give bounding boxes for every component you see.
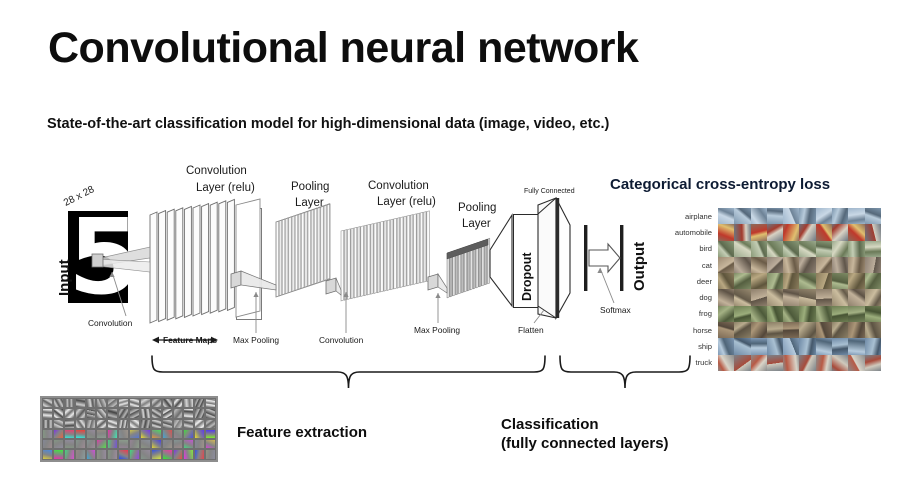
conv1-leader-label: Convolution (88, 318, 132, 328)
filter-tile (64, 408, 75, 418)
cifar-thumbnail (832, 273, 848, 289)
filter-tile (86, 419, 97, 429)
filter-tile (194, 429, 205, 439)
cifar-thumbnail (848, 257, 864, 273)
filter-tile (205, 439, 216, 449)
pool2-sheet (488, 238, 490, 284)
cifar-thumbnail (718, 224, 734, 240)
cifar-thumbnail (832, 257, 848, 273)
filter-tile (107, 429, 118, 439)
fc-thick-edge (556, 198, 559, 318)
cifar-thumbnail (767, 224, 783, 240)
conv2-sheet (404, 216, 407, 287)
conv2-sheet (341, 230, 344, 301)
cifar-row: ship (655, 338, 881, 354)
pool2-sheet (485, 239, 487, 285)
cifar-thumbnail (832, 338, 848, 354)
cifar-class-label: horse (655, 326, 718, 335)
conv2-sheet (367, 224, 370, 295)
cifar-thumbnail (799, 289, 815, 305)
filter-tile (53, 419, 64, 429)
pool1-sheet (282, 219, 284, 295)
cifar-thumbnail (799, 208, 815, 224)
filter-tile (151, 398, 162, 408)
dropout-label: Dropout (520, 252, 534, 301)
filter-row (42, 449, 216, 459)
filter-tile (96, 449, 107, 459)
fc-funnel-right (556, 198, 570, 318)
cifar-thumbnail (865, 338, 881, 354)
cifar-thumbnail (734, 273, 750, 289)
cifar-thumbnail (865, 257, 881, 273)
conv2-sheet (391, 219, 394, 290)
cifar-thumbnail (848, 241, 864, 257)
filter-tile (118, 449, 129, 459)
filter-tile (96, 429, 107, 439)
pool2-sheet (473, 243, 475, 289)
filter-tile (129, 429, 140, 439)
cifar-class-label: automobile (655, 228, 718, 237)
filter-tile (53, 398, 64, 408)
pool1-sheet (327, 204, 329, 280)
pool2-sheet (479, 241, 481, 287)
filter-tile (42, 429, 53, 439)
filter-tile (140, 408, 151, 418)
cifar-thumbnail-row (718, 289, 881, 305)
cifar-class-label: frog (655, 309, 718, 318)
filter-tile (86, 429, 97, 439)
pool1-sheet (314, 208, 316, 284)
cifar-thumbnail (734, 355, 750, 371)
cifar-thumbnail (865, 355, 881, 371)
filter-tile (96, 408, 107, 418)
pool2-sheet (482, 240, 484, 286)
cifar-thumbnail (783, 322, 799, 338)
cifar-thumbnail (734, 322, 750, 338)
pool2-sheet (453, 250, 455, 296)
cifar-thumbnail (718, 208, 734, 224)
filter-tile (42, 439, 53, 449)
cifar-class-label: ship (655, 342, 718, 351)
cifar-thumbnail (734, 241, 750, 257)
pool2-leader-label: Max Pooling (414, 325, 460, 335)
filter-tile (42, 419, 53, 429)
cifar-thumbnail (848, 224, 864, 240)
cifar-thumbnail (816, 322, 832, 338)
filter-tile (151, 429, 162, 439)
cifar-thumbnail-row (718, 224, 881, 240)
cifar-thumbnail (767, 338, 783, 354)
cifar-thumbnail (816, 257, 832, 273)
fc-edge (538, 198, 556, 318)
filter-tile (162, 439, 173, 449)
cifar-thumbnail (865, 289, 881, 305)
pool1-sheet (311, 209, 313, 285)
cifar-thumbnail (718, 355, 734, 371)
pool1-sheet (321, 206, 323, 282)
cifar-thumbnail (848, 273, 864, 289)
cifar-row: bird (655, 241, 881, 257)
pool1-sheet (308, 210, 310, 286)
cifar-thumbnail (865, 306, 881, 322)
flatten-label: Flatten (518, 325, 544, 335)
cifar-class-label: deer (655, 277, 718, 286)
conv2-sheet (348, 229, 351, 300)
cifar-thumbnail (767, 241, 783, 257)
page-subtitle: State-of-the-art classification model fo… (47, 116, 609, 132)
filter-tile (151, 419, 162, 429)
cifar-thumbnail (832, 306, 848, 322)
conv2-sheet (364, 225, 367, 296)
cifar-thumbnail (832, 355, 848, 371)
filter-tile (205, 408, 216, 418)
pool2-sheet (456, 249, 458, 295)
cifar-thumbnail (751, 355, 767, 371)
conv2-sheet (351, 228, 354, 299)
filter-tile (64, 419, 75, 429)
filter-tile (42, 408, 53, 418)
feature-map-sheet (193, 205, 200, 316)
cifar-thumbnail (799, 241, 815, 257)
filter-tile (118, 429, 129, 439)
filter-tile (140, 419, 151, 429)
pool2-sheet (470, 244, 472, 290)
pool1-title-line1: Pooling (291, 181, 329, 193)
conv2-sheet (394, 218, 397, 289)
filter-tile (140, 439, 151, 449)
pool2-sheet (459, 248, 461, 294)
cifar-thumbnail (751, 289, 767, 305)
filter-tile (194, 419, 205, 429)
pool1-sheet (298, 213, 300, 289)
filter-tile (129, 449, 140, 459)
filter-tile (53, 439, 64, 449)
conv2-sheet (354, 227, 357, 298)
cifar-thumbnail-row (718, 257, 881, 273)
softmax-bar (584, 225, 587, 291)
feature-map-sheet (167, 209, 174, 320)
cifar-thumbnail (734, 306, 750, 322)
pool1-sheet (292, 216, 294, 292)
cifar-thumbnail (734, 224, 750, 240)
softmax-label: Softmax (600, 305, 631, 315)
filter-tile (151, 449, 162, 459)
filter-tile (86, 408, 97, 418)
cifar-row: horse (655, 322, 881, 338)
filter-tile (183, 408, 194, 418)
conv1-sheet-stack (150, 199, 234, 323)
conv2-sheet (420, 212, 423, 283)
cifar-thumbnail (783, 257, 799, 273)
feature-map-sheet (227, 199, 234, 310)
input-digit-image: 5 (68, 211, 128, 303)
conv2-title-line1: Convolution (368, 180, 429, 192)
conv2-sheet (358, 227, 361, 298)
filter-tile (173, 408, 184, 418)
cifar-thumbnail (767, 208, 783, 224)
cifar-thumbnail (832, 208, 848, 224)
filter-tile (129, 419, 140, 429)
conv2-sheet (417, 213, 420, 284)
filter-tile (151, 408, 162, 418)
pool2-sheet (462, 247, 464, 293)
cifar-thumbnail (751, 273, 767, 289)
filter-tile (107, 439, 118, 449)
cifar-thumbnail (767, 273, 783, 289)
cifar-thumbnail (718, 306, 734, 322)
filter-tile (151, 439, 162, 449)
cifar-thumbnail (848, 306, 864, 322)
filter-tile (75, 408, 86, 418)
cifar-thumbnail (832, 241, 848, 257)
pool1-block (276, 204, 330, 298)
cifar-thumbnail (799, 338, 815, 354)
filter-tile (107, 398, 118, 408)
digit-glyph: 5 (68, 202, 128, 312)
cifar-thumbnail (816, 306, 832, 322)
cifar-thumbnail-row (718, 355, 881, 371)
cifar-thumbnail (718, 338, 734, 354)
cifar-thumbnail-row (718, 273, 881, 289)
flatten-leader (534, 310, 544, 323)
filter-tile (118, 398, 129, 408)
filter-tile (75, 449, 86, 459)
feature-map-sheet (176, 208, 183, 319)
pool2-sheet (447, 252, 449, 298)
filter-tile (183, 439, 194, 449)
conv-filter-visualization (40, 396, 218, 462)
cifar-thumbnail (816, 273, 832, 289)
pool-window (428, 274, 438, 290)
conv2-sheet (410, 215, 413, 286)
cifar-thumbnail (783, 289, 799, 305)
cifar-thumbnail (767, 322, 783, 338)
pool1-sheet (286, 218, 288, 294)
filter-tile (118, 419, 129, 429)
cifar-thumbnail (848, 338, 864, 354)
page-title: Convolutional neural network (48, 27, 638, 70)
feature-extraction-caption: Feature extraction (237, 424, 367, 441)
filter-tile (86, 398, 97, 408)
conv2-sheet (384, 221, 387, 292)
filter-tile (107, 419, 118, 429)
conv2-sheet (414, 214, 417, 285)
cifar-thumbnail (799, 306, 815, 322)
cifar-row: airplane (655, 208, 881, 224)
conv2-sheet (381, 221, 384, 292)
convolution-leader-2-head (343, 292, 348, 297)
cifar-thumbnail (751, 322, 767, 338)
filter-tile (173, 449, 184, 459)
cifar-thumbnail (816, 355, 832, 371)
filter-tile (86, 439, 97, 449)
pool1-sheet (305, 211, 307, 287)
cifar-thumbnail (816, 241, 832, 257)
cifar-thumbnail (865, 273, 881, 289)
output-bar (620, 225, 623, 291)
filter-tile (75, 398, 86, 408)
filter-tile (205, 419, 216, 429)
filter-tile (53, 408, 64, 418)
cifar-thumbnail (865, 208, 881, 224)
cifar-thumbnail (799, 257, 815, 273)
cifar-thumbnail (718, 322, 734, 338)
pool2-sheet (476, 242, 478, 288)
cifar-thumbnail (848, 322, 864, 338)
conv2-sheet (371, 224, 374, 295)
feature-map-sheet (210, 202, 217, 313)
filter-tile (194, 398, 205, 408)
cifar-thumbnail (751, 241, 767, 257)
filter-tile (140, 398, 151, 408)
classification-caption-line1: Classification (501, 415, 669, 434)
cifar-thumbnail (832, 322, 848, 338)
filter-tile (86, 449, 97, 459)
softmax-leader (600, 268, 614, 303)
filter-tile (107, 449, 118, 459)
filter-tile (129, 439, 140, 449)
conv2-leader-label: Convolution (319, 335, 363, 345)
cifar-thumbnail (832, 224, 848, 240)
filter-tile (183, 449, 194, 459)
cifar-thumbnail (751, 224, 767, 240)
flatten-funnel-left (490, 215, 512, 306)
pool1-sheet (295, 215, 297, 291)
feature-map-sheet (159, 211, 166, 322)
filter-tile (118, 408, 129, 418)
cifar-class-label: dog (655, 293, 718, 302)
filter-tile (205, 449, 216, 459)
conv2-to-pool2-window (428, 274, 447, 293)
cifar-thumbnail (718, 273, 734, 289)
filter-tile (173, 398, 184, 408)
pool2-title-line1: Pooling (458, 202, 496, 214)
cifar-thumbnail (799, 355, 815, 371)
cifar-thumbnail (865, 241, 881, 257)
fully-connected-panel (538, 198, 556, 318)
filter-tile (194, 449, 205, 459)
cifar-thumbnail-row (718, 208, 881, 224)
cifar-row: deer (655, 273, 881, 289)
cifar-row: cat (655, 257, 881, 273)
conv1-title-line1: Convolution (186, 165, 247, 177)
cifar-thumbnail (751, 338, 767, 354)
cifar-thumbnail-row (718, 306, 881, 322)
filter-tile (75, 429, 86, 439)
cifar-row: frog (655, 306, 881, 322)
filter-tile (42, 398, 53, 408)
conv2-sheet (407, 215, 410, 286)
cifar-thumbnail (799, 273, 815, 289)
filter-tile (64, 439, 75, 449)
filter-tile (96, 398, 107, 408)
cifar-thumbnail-row (718, 241, 881, 257)
cifar-thumbnail (865, 224, 881, 240)
filter-tile (173, 429, 184, 439)
output-axis-label: Output (631, 242, 648, 291)
pool2-sheet (450, 251, 452, 297)
cifar-thumbnail-row (718, 338, 881, 354)
pool2-block (447, 238, 490, 298)
feature-maps-arrow-left (152, 337, 159, 344)
filter-tile (162, 429, 173, 439)
cifar-dataset-grid: airplaneautomobilebirdcatdeerdogfroghors… (655, 208, 881, 371)
conv2-sheet (424, 212, 427, 283)
conv1-caption: Feature Maps (163, 335, 217, 345)
pool-window-projection (336, 278, 341, 295)
cifar-thumbnail (783, 355, 799, 371)
conv2-block (341, 211, 429, 301)
cifar-thumbnail (832, 289, 848, 305)
conv2-sheet (400, 217, 403, 288)
pool1-sheet (324, 205, 326, 281)
cifar-thumbnail (734, 338, 750, 354)
pool1-sheet (276, 221, 278, 297)
filter-tile (173, 419, 184, 429)
filter-tile (140, 429, 151, 439)
filter-tile (162, 398, 173, 408)
cifar-thumbnail (718, 257, 734, 273)
conv2-sheet (427, 211, 430, 282)
filter-tile (42, 449, 53, 459)
filter-tile (162, 408, 173, 418)
cifar-thumbnail (799, 224, 815, 240)
pool1-title-line2: Layer (295, 197, 324, 209)
cifar-row: automobile (655, 224, 881, 240)
cifar-thumbnail (799, 322, 815, 338)
filter-tile (140, 449, 151, 459)
pool2-sheet (467, 245, 469, 291)
cifar-thumbnail (718, 289, 734, 305)
cifar-thumbnail (767, 289, 783, 305)
cifar-thumbnail (751, 257, 767, 273)
classification-caption-line2: (fully connected layers) (501, 434, 669, 453)
feature-map-sheet (219, 201, 226, 312)
conv2-sheet (344, 230, 347, 301)
pool2-sheet (464, 246, 466, 292)
cifar-thumbnail (865, 322, 881, 338)
filter-tile (96, 439, 107, 449)
filter-tile (162, 419, 173, 429)
filter-row (42, 429, 216, 439)
cifar-thumbnail (816, 208, 832, 224)
conv2-sheet (374, 223, 377, 294)
pool1-outline (276, 204, 330, 297)
pool1-to-conv2-window (326, 278, 341, 295)
cifar-thumbnail (848, 355, 864, 371)
filter-tile (53, 449, 64, 459)
filter-tile (173, 439, 184, 449)
filter-tile (194, 439, 205, 449)
feature-map-sheet (202, 204, 209, 315)
loss-heading: Categorical cross-entropy loss (610, 176, 830, 193)
pool-window (326, 278, 336, 294)
filter-tile (183, 419, 194, 429)
cifar-thumbnail (783, 241, 799, 257)
slide-canvas: Convolutional neural network State-of-th… (0, 0, 899, 503)
cifar-thumbnail (816, 289, 832, 305)
cifar-thumbnail (734, 208, 750, 224)
pool2-title-line2: Layer (462, 218, 491, 230)
filter-tile (118, 439, 129, 449)
pool1-sheet (289, 217, 291, 293)
cifar-thumbnail (816, 224, 832, 240)
conv2-sheet (387, 220, 390, 291)
cifar-class-label: airplane (655, 212, 718, 221)
cifar-thumbnail-row (718, 322, 881, 338)
output-arrow-icon (589, 244, 620, 272)
conv2-title-line2: Layer (relu) (377, 196, 436, 208)
